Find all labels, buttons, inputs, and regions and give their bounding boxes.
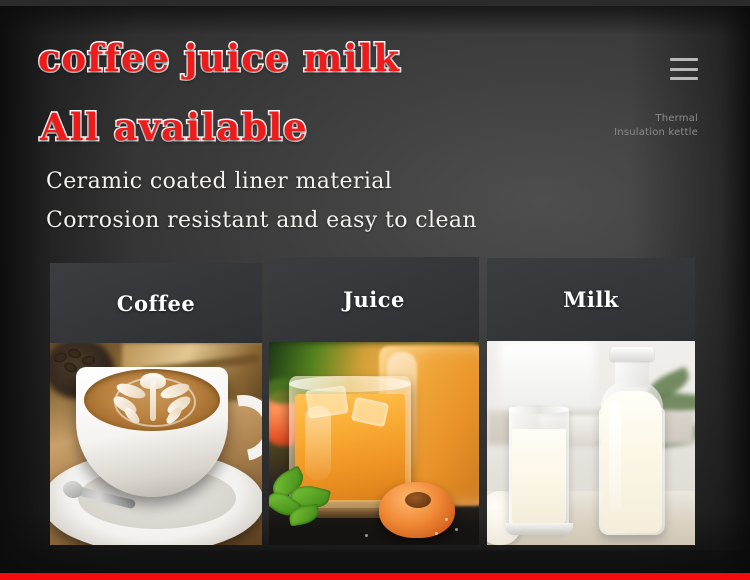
juice-scene: [269, 342, 479, 545]
milk-glass-base: [505, 523, 573, 535]
product-card-coffee[interactable]: Coffee: [50, 263, 262, 545]
product-card-juice[interactable]: Juice: [269, 257, 479, 545]
bottom-accent-bar: [0, 573, 750, 580]
feature-line-1: Ceramic coated liner material: [46, 169, 392, 194]
card-header-milk: Milk: [487, 258, 695, 341]
juice-peach-pit: [405, 492, 431, 508]
coffee-latte-art: [106, 373, 200, 427]
watermark-line-2: Insulation kettle: [478, 126, 698, 140]
product-banner: coffee juice milk All available Ceramic …: [0, 0, 750, 580]
card-image-coffee: [50, 343, 262, 545]
juice-water-droplet: [435, 532, 438, 535]
milk-glass-liquid: [512, 429, 566, 525]
juice-water-droplet: [365, 534, 368, 537]
milk-scene: [487, 341, 695, 545]
juice-water-droplet: [445, 518, 448, 521]
card-header-coffee: Coffee: [50, 263, 262, 343]
product-card-milk[interactable]: Milk: [487, 258, 695, 545]
card-title-milk: Milk: [563, 287, 619, 312]
juice-glass-rim: [289, 376, 411, 392]
hamburger-bar-bottom: [670, 77, 698, 80]
watermark-label: Thermal Insulation kettle: [478, 112, 698, 140]
card-title-coffee: Coffee: [117, 291, 196, 316]
headline-secondary: All available: [40, 105, 308, 149]
coffee-scene: [50, 343, 262, 545]
watermark-line-1: Thermal: [478, 112, 698, 126]
hamburger-bar-middle: [670, 68, 698, 71]
milk-glass-rim: [509, 405, 569, 414]
card-header-juice: Juice: [269, 257, 479, 342]
hamburger-bar-top: [670, 58, 698, 61]
hamburger-menu-icon[interactable]: [670, 58, 698, 80]
top-edge-strip: [0, 0, 750, 6]
card-title-juice: Juice: [343, 287, 405, 312]
juice-mint-leaves: [269, 468, 347, 530]
milk-bottle-highlight: [609, 401, 621, 513]
milk-bottle: [595, 349, 669, 535]
juice-water-droplet: [455, 528, 458, 531]
card-image-juice: [269, 342, 479, 545]
headline-primary: coffee juice milk: [38, 36, 400, 80]
feature-line-2: Corrosion resistant and easy to clean: [46, 208, 477, 233]
juice-peach-half: [379, 482, 455, 538]
card-image-milk: [487, 341, 695, 545]
milk-bottle-cap: [610, 347, 654, 361]
